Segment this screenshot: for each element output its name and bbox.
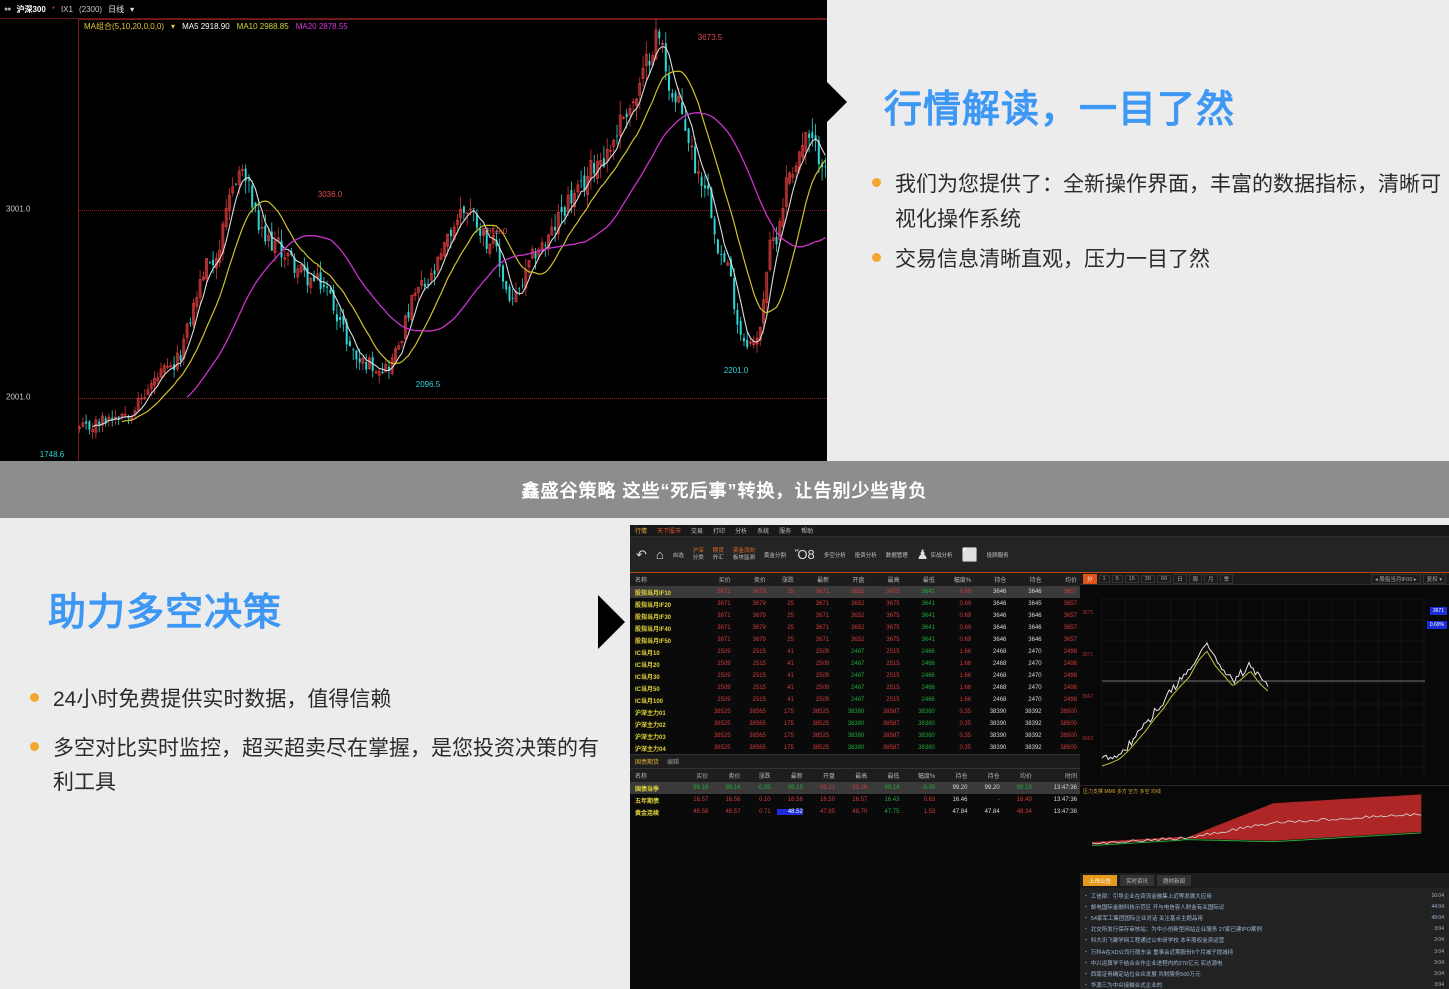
news-tab-realtime[interactable]: 实时资讯 xyxy=(1120,875,1154,886)
toolbar-button-5[interactable]: 资金流向板块监测 xyxy=(733,548,755,562)
table-row[interactable]: IC当月50250925154125092467251524661.662468… xyxy=(630,682,1080,694)
toolbar-button-7[interactable]: Ὄ8 xyxy=(795,548,815,561)
cell-开盘: 38380 xyxy=(832,706,867,718)
quote-table-futures: 名称买价卖价涨跌最新开盘最高最低幅度%持仓持仓均价 股指当月IF10367136… xyxy=(630,573,1080,754)
period-tab-季[interactable]: 季 xyxy=(1220,574,1234,584)
cell-最新: 38525 xyxy=(797,742,832,754)
table-row[interactable]: 沪深主力023852538565175385253838038587383600… xyxy=(630,718,1080,730)
cell-最高: 38587 xyxy=(867,742,902,754)
bottom-bullet-1: 24小时免费提供实时数据，值得信赖 xyxy=(53,683,391,718)
table-row[interactable]: 股指当月IF30367136792536713652367536410.6936… xyxy=(630,610,1080,622)
row-instrument-name: 沪深主力02 xyxy=(630,718,698,730)
cell-最高: 38587 xyxy=(867,730,902,742)
cell-持仓: - xyxy=(970,794,1002,806)
news-bullet-icon: ▪ xyxy=(1085,960,1087,966)
row-instrument-name: 国债当季 xyxy=(630,782,679,794)
row-instrument-name: 股指当月IF10 xyxy=(630,586,698,598)
toolbar-button-0[interactable]: ↶ xyxy=(636,548,647,561)
bullet-dot-icon xyxy=(30,693,39,702)
toolbar-label: 黄金分割 xyxy=(764,551,786,559)
column-header-4[interactable]: 最新 xyxy=(797,573,832,586)
cell-涨跌: 25 xyxy=(769,610,797,622)
cell-卖价: 3679 xyxy=(734,586,769,598)
cell-卖价: 2515 xyxy=(734,670,769,682)
cell-卖价: 38565 xyxy=(734,706,769,718)
section-tab-active[interactable]: 国债期货 xyxy=(635,757,659,766)
cell-卖价: 2515 xyxy=(734,694,769,706)
cell-最低: 38360 xyxy=(903,730,938,742)
annotation-high-peak: 3673.5 xyxy=(698,33,722,42)
cell-最新: 3671 xyxy=(797,622,832,634)
cell-持仓: 38392 xyxy=(1009,718,1044,730)
toolbar-label: 数据管理 xyxy=(886,551,908,559)
row-instrument-name: 沪深主力01 xyxy=(630,706,698,718)
column-header-9[interactable]: 持仓 xyxy=(974,573,1009,586)
indicator-label: 压力支撑 MM6 多方 空方 多空 均线 xyxy=(1083,788,1161,795)
column-header-3[interactable]: 涨跌 xyxy=(769,573,797,586)
column-header-2[interactable]: 卖价 xyxy=(734,573,769,586)
chevron-down-icon[interactable]: ▾ xyxy=(130,5,134,14)
news-item[interactable]: ▪万科A在XD公司行股东会 重事会近期股份6个月减子提减持3:04 xyxy=(1080,946,1449,957)
column-header-10[interactable]: 持仓 xyxy=(1009,573,1044,586)
cell-最高: 2515 xyxy=(867,682,902,694)
cell-时间: 13:47:36 xyxy=(1035,794,1080,806)
cell-幅度%: 0.35 xyxy=(938,706,974,718)
news-item[interactable]: ▪中兴运算学干结合合作企业进程内的276亿元 实达源电3:04 xyxy=(1080,957,1449,968)
cell-开盘: 2467 xyxy=(832,682,867,694)
symbol-selector[interactable]: ◂ 股指当月IF00 ▸ xyxy=(1371,574,1421,584)
cell-买价: 2509 xyxy=(698,646,733,658)
news-time: 44:04 xyxy=(1431,904,1444,910)
top-text-content: 行情解读，一目了然 我们为您提供了：全新操作界面，丰富的数据指标，清晰可视化操作… xyxy=(872,0,1449,461)
cell-开盘: 99.21 xyxy=(806,782,838,794)
cell-最新: 48.52 xyxy=(774,806,806,818)
column-header-0[interactable]: 名称 xyxy=(630,573,698,586)
toolbar-button-6[interactable]: 黄金分割 xyxy=(764,551,786,559)
row-instrument-name: 股指当月IF30 xyxy=(630,610,698,622)
adjust-selector[interactable]: 复权 ▾ xyxy=(1423,574,1446,584)
toolbar-button-10[interactable]: 数据管理 xyxy=(886,551,908,559)
table-row[interactable]: 黄金连续48.5848.570.7148.5247.8548.7047.751.… xyxy=(630,806,1080,818)
center-banner: 鑫盛谷策略 这些“死后事”转换，让告别少些背负 xyxy=(0,461,1449,518)
column-header-7[interactable]: 最低 xyxy=(903,573,938,586)
toolbar-button-2[interactable]: 自选 xyxy=(673,551,684,559)
cell-持仓: 3646 xyxy=(974,634,1009,646)
row-instrument-name: IC当月100 xyxy=(630,694,698,706)
cell-持仓: 3646 xyxy=(1009,622,1044,634)
cell-卖价: 3679 xyxy=(734,610,769,622)
cell-持仓: 3646 xyxy=(974,622,1009,634)
cell-幅度%: 1.53 xyxy=(902,806,938,818)
cell-幅度%: -0.05 xyxy=(902,782,938,794)
cell-持仓: 2470 xyxy=(1009,670,1044,682)
cell-持仓: 99.20 xyxy=(970,782,1002,794)
cell-卖价: 3679 xyxy=(734,622,769,634)
cell-最高: 99.26 xyxy=(838,782,870,794)
chart-pct-badge: 0.69% xyxy=(1427,621,1447,629)
terminal-body: 名称买价卖价涨跌最新开盘最高最低幅度%持仓持仓均价 股指当月IF10367136… xyxy=(630,573,1449,989)
cell-均价: 38500 xyxy=(1045,706,1080,718)
toolbar-button-12[interactable]: ⬜ xyxy=(961,548,977,561)
intraday-chart-svg xyxy=(1080,585,1449,785)
news-item[interactable]: ▪科大讯飞聚学网工程通过公布研学校 本年股权金资运营2:04 xyxy=(1080,935,1449,946)
cell-开盘: 3652 xyxy=(832,598,867,610)
news-item[interactable]: ▪西南证券确定站位合众发展 共财服务500万元3:04 xyxy=(1080,968,1449,979)
cell-时间: 13:47:36 xyxy=(1035,782,1080,794)
quote-tables-pane: 名称买价卖价涨跌最新开盘最高最低幅度%持仓持仓均价 股指当月IF10367136… xyxy=(630,573,1080,989)
column-header-11[interactable]: 均价 xyxy=(1003,769,1035,782)
menu-item-6[interactable]: 服务 xyxy=(779,526,791,535)
column-header-6[interactable]: 最高 xyxy=(838,769,870,782)
column-header-12[interactable]: 时间 xyxy=(1035,769,1080,782)
table-row[interactable]: 股指当月IF50367136792536713652367536410.6936… xyxy=(630,634,1080,646)
toolbar-label-bottom: 外汇 xyxy=(713,555,724,562)
toolbar-glyph-icon: ↶ xyxy=(636,548,647,561)
cell-均价: 3657 xyxy=(1045,622,1080,634)
row-instrument-name: IC当月10 xyxy=(630,646,698,658)
cell-最新: 3671 xyxy=(797,610,832,622)
table-row[interactable]: 国债当季99.1699.14-0.0599.1599.2199.2699.14-… xyxy=(630,782,1080,794)
cell-买价: 38525 xyxy=(698,730,733,742)
toolbar-label-top: 沪深 xyxy=(693,548,704,555)
chart-y-tick-1: 3671 xyxy=(1082,652,1093,658)
cell-均价: 2498 xyxy=(1045,670,1080,682)
column-header-3[interactable]: 涨跌 xyxy=(743,769,773,782)
quote-table-bonds: 名称买价卖价涨跌最新开盘最高最低幅度%持仓持仓均价时间 国债当季99.1699.… xyxy=(630,769,1080,818)
table-row[interactable]: IC当月10250925154125092467251524661.662468… xyxy=(630,646,1080,658)
cell-买价: 38525 xyxy=(698,718,733,730)
cell-最低: 2466 xyxy=(903,658,938,670)
cell-持仓: 2468 xyxy=(974,658,1009,670)
toolbar-button-9[interactable]: 投资分析 xyxy=(855,551,877,559)
news-time: 2:04 xyxy=(1434,937,1444,943)
news-time: 3:04 xyxy=(1434,971,1444,977)
cell-买价: 38525 xyxy=(698,742,733,754)
period-tab-5[interactable]: 5 xyxy=(1112,575,1123,583)
section-tab-edit[interactable]: 编辑 xyxy=(667,757,679,766)
cell-开盘: 38380 xyxy=(832,742,867,754)
toolbar-glyph-icon: ⬜ xyxy=(961,548,977,561)
menu-item-3[interactable]: 打印 xyxy=(713,526,725,535)
cell-开盘: 3652 xyxy=(832,586,867,598)
cell-最高: 2515 xyxy=(867,658,902,670)
cell-涨跌: 175 xyxy=(769,718,797,730)
cell-最高: 3675 xyxy=(867,598,902,610)
cell-幅度%: 1.66 xyxy=(938,658,974,670)
kline-favorite-star-icon[interactable]: * xyxy=(52,5,55,14)
cell-最新: 38525 xyxy=(797,718,832,730)
cell-持仓: 38392 xyxy=(1009,706,1044,718)
row-instrument-name: 黄金连续 xyxy=(630,806,679,818)
menu-item-1[interactable]: 天下股市 xyxy=(657,526,681,535)
period-tab-60[interactable]: 60 xyxy=(1157,575,1171,583)
news-bullet-icon: ▪ xyxy=(1085,893,1087,899)
table-row[interactable]: IC当月20250925154125092467251524661.662468… xyxy=(630,658,1080,670)
cell-卖价: 38565 xyxy=(734,742,769,754)
cell-最低: 99.14 xyxy=(870,782,902,794)
cell-幅度%: 0.69 xyxy=(938,586,974,598)
cell-持仓: 38390 xyxy=(974,730,1009,742)
cell-均价: 38500 xyxy=(1045,730,1080,742)
toolbar-label: 实战分析 xyxy=(930,551,952,559)
news-item[interactable]: ▪54家军工集团国际企业对话 关注基点主题品用49:04 xyxy=(1080,912,1449,923)
cell-最高: 3675 xyxy=(867,610,902,622)
top-bullet-2: 交易信息清晰直观，压力一目了然 xyxy=(895,243,1210,278)
cell-均价: 3657 xyxy=(1045,586,1080,598)
news-bullet-icon: ▪ xyxy=(1085,904,1087,910)
kline-symbol-code2: (2300) xyxy=(79,5,102,14)
table-row[interactable]: 沪深主力013852538565175385253838038587383600… xyxy=(630,706,1080,718)
indicator-chart-svg xyxy=(1080,786,1449,872)
cell-最低: 2466 xyxy=(903,646,938,658)
kline-chart-panel: ●● 沪深300 * IX1 (2300) 日线 ▾ MA组合(5,10,20,… xyxy=(0,0,827,461)
table-row[interactable]: 沪深主力043852538565175385253838038587383600… xyxy=(630,742,1080,754)
cell-卖价: 48.57 xyxy=(711,806,743,818)
column-header-5[interactable]: 开盘 xyxy=(832,573,867,586)
column-header-1[interactable]: 买价 xyxy=(698,573,733,586)
cell-均价: 3657 xyxy=(1045,598,1080,610)
cell-均价: 38500 xyxy=(1045,742,1080,754)
cell-开盘: 3652 xyxy=(832,610,867,622)
period-tab-15[interactable]: 15 xyxy=(1125,575,1139,583)
toolbar-label: 自选 xyxy=(673,551,684,559)
table-row[interactable]: 沪深主力033852538565175385253838038587383600… xyxy=(630,730,1080,742)
news-title: 北交所发行保存审核站：为中小创新型网站企业服务 27家已建IPO案例 xyxy=(1091,925,1430,933)
menu-item-2[interactable]: 交易 xyxy=(691,526,703,535)
cell-最低: 3641 xyxy=(903,598,938,610)
period-tab-1[interactable]: 1 xyxy=(1099,575,1110,583)
cell-持仓: 3646 xyxy=(1009,634,1044,646)
news-list: ▪工信部：引导企业在资流金融集上近等发展大应用16:04▪邮电国际金融科技示范区… xyxy=(1080,888,1449,989)
column-header-10[interactable]: 持仓 xyxy=(970,769,1002,782)
cell-最新: 3671 xyxy=(797,598,832,610)
table-row[interactable]: 五年期债16.5716.560.1016.5616.5016.5716.430.… xyxy=(630,794,1080,806)
cell-开盘: 2467 xyxy=(832,670,867,682)
kline-dots-icon: ●● xyxy=(4,6,10,13)
column-header-11[interactable]: 均价 xyxy=(1045,573,1080,586)
cell-开盘: 3652 xyxy=(832,622,867,634)
news-item[interactable]: ▪邮电国际金融科技示范区 开与电信容人财金有关国际议44:04 xyxy=(1080,901,1449,912)
menu-item-7[interactable]: 帮助 xyxy=(801,526,813,535)
cell-持仓: 3646 xyxy=(974,598,1009,610)
highlighted-cell-value: 48.52 xyxy=(777,809,803,815)
news-title: 科大讯飞聚学网工程通过公布研学校 本年股权金资运营 xyxy=(1091,936,1430,944)
toolbar-button-11[interactable]: ♟实战分析 xyxy=(917,548,953,561)
table-row[interactable]: IC当月100250925154125092467251524661.66246… xyxy=(630,694,1080,706)
cell-均价: 2498 xyxy=(1045,658,1080,670)
toolbar-label-top: 资金流向 xyxy=(733,548,755,555)
toolbar-button-8[interactable]: 多空分析 xyxy=(824,551,846,559)
chart-y-tick-3: 3663 xyxy=(1082,736,1093,742)
news-bullet-icon: ▪ xyxy=(1085,915,1087,921)
period-tab-分[interactable]: 分 xyxy=(1083,574,1097,584)
cell-开盘: 3652 xyxy=(832,634,867,646)
column-header-4[interactable]: 最新 xyxy=(774,769,806,782)
row-instrument-name: 五年期债 xyxy=(630,794,679,806)
cell-最高: 2515 xyxy=(867,646,902,658)
menu-item-0[interactable]: 行情 xyxy=(635,526,647,535)
cell-卖价: 3679 xyxy=(734,598,769,610)
cell-均价: 16.49 xyxy=(1003,794,1035,806)
cell-开盘: 47.85 xyxy=(806,806,838,818)
news-title: 中兴运算学干结合合作企业进程内的276亿元 实达源电 xyxy=(1091,959,1430,967)
cell-幅度%: 0.69 xyxy=(938,598,974,610)
cell-卖价: 3679 xyxy=(734,634,769,646)
column-header-8[interactable]: 幅度% xyxy=(938,573,974,586)
top-headline: 行情解读，一目了然 xyxy=(884,78,1235,133)
cell-涨跌: 0.71 xyxy=(743,806,773,818)
toolbar-label-bottom: 板块监测 xyxy=(733,555,755,562)
cell-最低: 16.43 xyxy=(870,794,902,806)
cell-涨跌: 25 xyxy=(769,598,797,610)
cell-最高: 2515 xyxy=(867,670,902,682)
news-title: 工信部：引导企业在资流金融集上近等发展大应用 xyxy=(1091,892,1428,900)
cell-幅度%: 1.66 xyxy=(938,694,974,706)
period-tab-月[interactable]: 月 xyxy=(1204,574,1218,584)
cell-最低: 2466 xyxy=(903,694,938,706)
menu-item-5[interactable]: 系统 xyxy=(757,526,769,535)
news-tab-announcements[interactable]: 上市公告 xyxy=(1083,875,1117,886)
list-item: 交易信息清晰直观，压力一目了然 xyxy=(872,243,1445,278)
column-header-5[interactable]: 开盘 xyxy=(806,769,838,782)
cell-最高: 3675 xyxy=(867,634,902,646)
column-header-8[interactable]: 幅度% xyxy=(902,769,938,782)
cell-幅度%: 1.66 xyxy=(938,646,974,658)
cell-幅度%: 0.35 xyxy=(938,718,974,730)
toolbar-button-4[interactable]: 期货外汇 xyxy=(713,548,724,562)
cell-持仓: 3646 xyxy=(1009,610,1044,622)
news-time: 16:04 xyxy=(1431,893,1444,899)
row-instrument-name: IC当月50 xyxy=(630,682,698,694)
period-tab-30[interactable]: 30 xyxy=(1141,575,1155,583)
cell-最新: 99.15 xyxy=(774,782,806,794)
kline-period-label[interactable]: 日线 xyxy=(108,4,124,15)
news-item[interactable]: ▪北交所发行保存审核站：为中小创新型网站企业服务 27家已建IPO案例3:04 xyxy=(1080,924,1449,935)
cell-买价: 3671 xyxy=(698,622,733,634)
kline-symbol-code: IX1 xyxy=(61,5,73,14)
cell-幅度%: 0.63 xyxy=(902,794,938,806)
toolbar-button-3[interactable]: 沪深分类 xyxy=(693,548,704,562)
cell-最低: 38360 xyxy=(903,706,938,718)
cell-最新: 2509 xyxy=(797,682,832,694)
column-header-7[interactable]: 最低 xyxy=(870,769,902,782)
top-section: ●● 沪深300 * IX1 (2300) 日线 ▾ MA组合(5,10,20,… xyxy=(0,0,1449,461)
annotation-start-low: 1748.6 xyxy=(40,450,64,459)
top-bullet-list: 我们为您提供了：全新操作界面，丰富的数据指标，清晰可视化操作系统 交易信息清晰直… xyxy=(872,168,1445,284)
period-tab-日[interactable]: 日 xyxy=(1173,574,1187,584)
period-tab-周[interactable]: 周 xyxy=(1189,574,1203,584)
cell-最低: 3641 xyxy=(903,610,938,622)
cell-涨跌: 41 xyxy=(769,682,797,694)
menu-item-4[interactable]: 分析 xyxy=(735,526,747,535)
column-header-9[interactable]: 持仓 xyxy=(938,769,970,782)
cell-持仓: 2470 xyxy=(1009,658,1044,670)
cell-均价: 2498 xyxy=(1045,694,1080,706)
bottom-section: 助力多空决策 24小时免费提供实时数据，值得信赖 多空对比实时监控，超买超卖尽在… xyxy=(0,518,1449,989)
cell-持仓: 3646 xyxy=(1009,586,1044,598)
news-title: 万科A在XD公司行股东会 重事会近期股份6个月减子提减持 xyxy=(1091,948,1430,956)
cell-涨跌: 41 xyxy=(769,670,797,682)
news-item[interactable]: ▪工信部：引导企业在资流金融集上近等发展大应用16:04 xyxy=(1080,890,1449,901)
bullet-dot-icon xyxy=(872,178,881,187)
news-title: 华源三为中众接触合式企业的 xyxy=(1091,981,1430,989)
news-title: 54家军工集团国际企业对话 关注基点主题品用 xyxy=(1091,914,1428,922)
cell-持仓: 47.84 xyxy=(938,806,970,818)
news-bullet-icon: ▪ xyxy=(1085,949,1087,955)
cell-最高: 16.57 xyxy=(838,794,870,806)
column-header-1[interactable]: 买价 xyxy=(679,769,711,782)
news-time: 3:04 xyxy=(1434,982,1444,988)
kline-topbar: ●● 沪深300 * IX1 (2300) 日线 ▾ xyxy=(0,0,827,19)
cell-持仓: 38390 xyxy=(974,742,1009,754)
cell-最新: 38525 xyxy=(797,730,832,742)
cell-最高: 3675 xyxy=(867,622,902,634)
cell-买价: 99.16 xyxy=(679,782,711,794)
news-item[interactable]: ▪华源三为中众接触合式企业的3:04 xyxy=(1080,980,1449,989)
cell-持仓: 2470 xyxy=(1009,646,1044,658)
cell-涨跌: 41 xyxy=(769,694,797,706)
cell-最低: 38360 xyxy=(903,718,938,730)
banner-title: 鑫盛谷策略 这些“死后事”转换，让告别少些背负 xyxy=(522,477,928,503)
cell-持仓: 99.20 xyxy=(938,782,970,794)
news-title: 邮电国际金融科技示范区 开与电信容人财金有关国际议 xyxy=(1091,903,1428,911)
toolbar-button-13[interactable]: 投顾服务 xyxy=(987,551,1009,559)
cell-买价: 3671 xyxy=(698,586,733,598)
cell-持仓: 38390 xyxy=(974,706,1009,718)
cell-持仓: 16.46 xyxy=(938,794,970,806)
bullet-dot-icon xyxy=(30,742,39,751)
news-tab-topics[interactable]: 题材新闻 xyxy=(1157,875,1191,886)
column-header-0[interactable]: 名称 xyxy=(630,769,679,782)
cell-最高: 38587 xyxy=(867,706,902,718)
cell-涨跌: 175 xyxy=(769,742,797,754)
cell-持仓: 38392 xyxy=(1009,730,1044,742)
top-bullet-1: 我们为您提供了：全新操作界面，丰富的数据指标，清晰可视化操作系统 xyxy=(895,168,1445,237)
pointer-triangle-top xyxy=(820,75,847,129)
column-header-6[interactable]: 最高 xyxy=(867,573,902,586)
cell-开盘: 2467 xyxy=(832,658,867,670)
cell-幅度%: 1.66 xyxy=(938,670,974,682)
annotation-local-high-2: 2859.0 xyxy=(483,227,507,236)
cell-涨跌: 0.10 xyxy=(743,794,773,806)
table-row[interactable]: 股指当月IF10367136792536713652367536410.6936… xyxy=(630,586,1080,598)
bottom-bullet-list: 24小时免费提供实时数据，值得信赖 多空对比实时监控，超买超卖尽在掌握，是您投资… xyxy=(30,683,610,807)
cell-最高: 3675 xyxy=(867,586,902,598)
table-row[interactable]: 股指当月IF20367136792536713652367536410.6936… xyxy=(630,598,1080,610)
cell-涨跌: 41 xyxy=(769,646,797,658)
intraday-chart: 3675 3671 3667 3663 3671 0.69% xyxy=(1080,585,1449,785)
trading-terminal: 行情天下股市交易打印分析系统服务帮助 ↶⌂自选沪深分类期货外汇资金流向板块监测黄… xyxy=(630,525,1449,989)
cell-涨跌: 25 xyxy=(769,634,797,646)
cell-买价: 2509 xyxy=(698,658,733,670)
column-header-2[interactable]: 卖价 xyxy=(711,769,743,782)
y-axis-label-lower: 2001.0 xyxy=(6,393,30,402)
cell-最高: 2515 xyxy=(867,694,902,706)
news-time: 49:04 xyxy=(1431,915,1444,921)
toolbar-button-1[interactable]: ⌂ xyxy=(656,548,664,561)
annotation-local-low-2: 2201.0 xyxy=(724,366,748,375)
cell-买价: 2509 xyxy=(698,682,733,694)
cell-持仓: 2468 xyxy=(974,682,1009,694)
toolbar-label-stack: 资金流向板块监测 xyxy=(733,548,755,562)
cell-卖价: 38565 xyxy=(734,730,769,742)
table-row[interactable]: 股指当月IF40367136792536713652367536410.6936… xyxy=(630,622,1080,634)
cell-最低: 2466 xyxy=(903,682,938,694)
annotation-local-high-1: 3036.0 xyxy=(318,190,342,199)
terminal-menubar: 行情天下股市交易打印分析系统服务帮助 xyxy=(630,525,1449,537)
table-row[interactable]: IC当月30250925154125092467251524661.662468… xyxy=(630,670,1080,682)
cell-最低: 3641 xyxy=(903,586,938,598)
